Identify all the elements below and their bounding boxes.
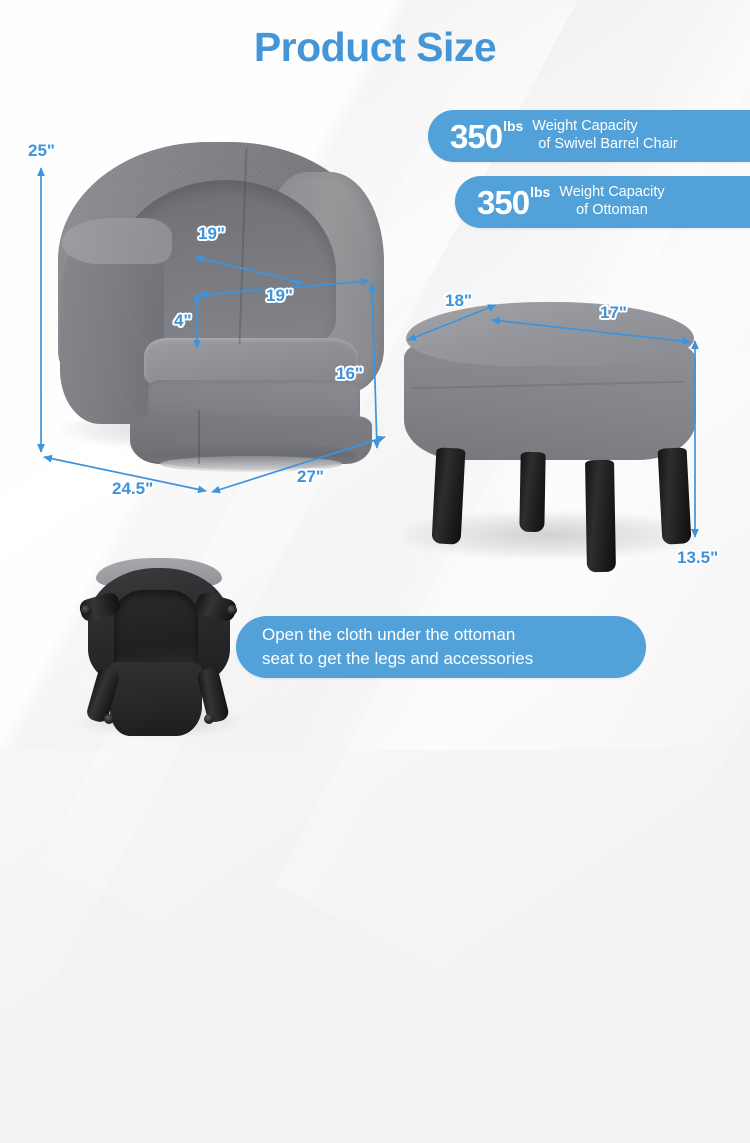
capacity-value: 350: [477, 186, 529, 219]
dim-label-ottoman-width: 17": [600, 303, 627, 323]
capacity-value: 350: [450, 120, 502, 153]
dim-label-chair-seat-height: 16": [336, 364, 363, 384]
dim-label-chair-height: 25": [28, 141, 55, 161]
dim-label-ottoman-depth: 18": [445, 291, 472, 311]
caption-line1: Open the cloth under the ottoman: [262, 623, 646, 647]
dim-label-ottoman-height: 13.5": [677, 548, 718, 568]
dim-label-chair-depth: 24.5": [112, 479, 153, 499]
product-size-infographic: Product Size: [0, 0, 750, 750]
capacity-text-line2: of Swivel Barrel Chair: [532, 136, 677, 154]
capacity-text-line1: Weight Capacity: [532, 118, 637, 134]
dim-line-chair-seat-height: [372, 283, 377, 448]
capacity-text-line1: Weight Capacity: [559, 184, 664, 200]
assembly-instruction-callout: Open the cloth under the ottoman seat to…: [236, 616, 646, 678]
capacity-unit: lbs: [530, 185, 550, 199]
weight-capacity-badge-chair: 350 lbs Weight Capacity of Swivel Barrel…: [428, 110, 750, 162]
dim-line-chair-seat-depth: [196, 257, 303, 283]
dim-label-chair-seat-depth: 19": [198, 224, 225, 244]
capacity-text: Weight Capacity of Swivel Barrel Chair: [532, 118, 677, 153]
capacity-text-line2: of Ottoman: [559, 202, 664, 220]
dim-line-ottoman-width: [492, 320, 690, 342]
caption-line2: seat to get the legs and accessories: [262, 647, 646, 671]
weight-capacity-badge-ottoman: 350 lbs Weight Capacity of Ottoman: [455, 176, 750, 228]
dim-label-chair-width: 27": [297, 467, 324, 487]
capacity-text: Weight Capacity of Ottoman: [559, 184, 664, 219]
capacity-unit: lbs: [503, 119, 523, 133]
dim-label-chair-seat-width: 19": [266, 286, 293, 306]
dim-label-chair-cushion: 4": [174, 311, 192, 331]
